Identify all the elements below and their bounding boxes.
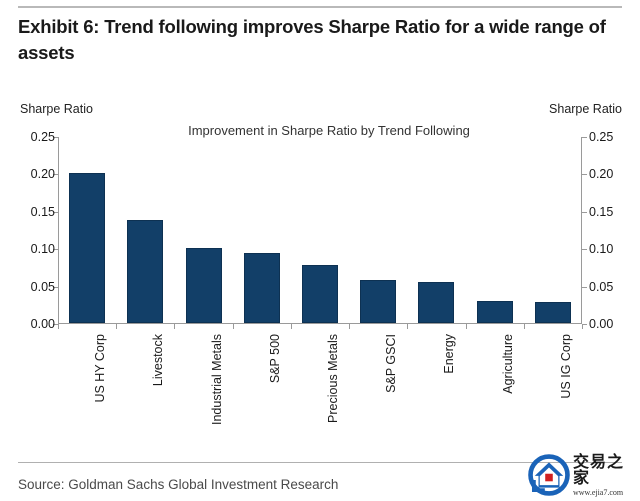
exhibit-title: Exhibit 6: Trend following improves Shar… bbox=[18, 14, 618, 66]
right-axis-tick-label: 0.00 bbox=[589, 318, 613, 331]
right-axis-tick-label: 0.05 bbox=[589, 281, 613, 294]
left-axis-tick-label: 0.25 bbox=[31, 131, 55, 144]
left-axis-title: Sharpe Ratio bbox=[20, 102, 93, 116]
x-axis-tick bbox=[466, 324, 467, 329]
right-axis-tick bbox=[582, 137, 587, 138]
plot-area: 0.000.000.050.050.100.100.150.150.200.20… bbox=[58, 137, 582, 324]
bar bbox=[127, 220, 163, 323]
right-axis-tick bbox=[582, 174, 587, 175]
chart-title: Improvement in Sharpe Ratio by Trend Fol… bbox=[0, 123, 640, 138]
x-axis-tick bbox=[233, 324, 234, 329]
right-axis-tick-label: 0.20 bbox=[589, 168, 613, 181]
x-axis-category-label: S&P GSCI bbox=[384, 334, 398, 393]
house-in-circle-logo-icon bbox=[528, 454, 570, 496]
bar bbox=[302, 265, 338, 323]
right-axis-tick bbox=[582, 287, 587, 288]
x-axis-tick bbox=[349, 324, 350, 329]
source-note: Source: Goldman Sachs Global Investment … bbox=[18, 477, 338, 492]
chart-container: Sharpe Ratio Sharpe Ratio Improvement in… bbox=[0, 96, 640, 446]
bar bbox=[418, 282, 454, 323]
right-axis-tick-label: 0.15 bbox=[589, 206, 613, 219]
bar bbox=[535, 302, 571, 323]
header-divider bbox=[18, 6, 622, 8]
bar bbox=[186, 248, 222, 323]
x-axis-tick bbox=[174, 324, 175, 329]
left-axis-line bbox=[58, 137, 59, 324]
x-axis-category-label: Livestock bbox=[151, 334, 165, 386]
right-axis-tick bbox=[582, 212, 587, 213]
left-axis-tick-label: 0.00 bbox=[31, 318, 55, 331]
x-axis-category-label: S&P 500 bbox=[268, 334, 282, 383]
right-axis-title: Sharpe Ratio bbox=[549, 102, 622, 116]
x-axis-category-label: US HY Corp bbox=[93, 334, 107, 403]
bar bbox=[360, 280, 396, 323]
watermark-name: 交易之家 bbox=[573, 454, 636, 486]
x-axis-category-label: Energy bbox=[442, 334, 456, 374]
bar bbox=[477, 301, 513, 323]
left-axis-tick-label: 0.15 bbox=[31, 206, 55, 219]
right-axis-line bbox=[581, 137, 582, 324]
watermark: 交易之家 www.ejia7.com bbox=[528, 452, 636, 498]
watermark-url: www.ejia7.com bbox=[573, 489, 636, 497]
x-axis-category-label: Precious Metals bbox=[326, 334, 340, 423]
left-axis-tick-label: 0.10 bbox=[31, 243, 55, 256]
left-axis-tick-label: 0.05 bbox=[31, 281, 55, 294]
x-axis-category-label: Agriculture bbox=[501, 334, 515, 394]
watermark-text: 交易之家 www.ejia7.com bbox=[573, 454, 636, 497]
left-axis-tick-label: 0.20 bbox=[31, 168, 55, 181]
x-axis-tick bbox=[524, 324, 525, 329]
x-axis-tick bbox=[407, 324, 408, 329]
x-axis-category-label: US IG Corp bbox=[559, 334, 573, 399]
right-axis-tick-label: 0.25 bbox=[589, 131, 613, 144]
x-axis-tick bbox=[582, 324, 583, 329]
x-axis-tick bbox=[291, 324, 292, 329]
x-axis-category-label: Industrial Metals bbox=[210, 334, 224, 425]
x-axis-tick bbox=[58, 324, 59, 329]
bar bbox=[69, 173, 105, 323]
right-axis-tick bbox=[582, 249, 587, 250]
x-axis-line bbox=[58, 323, 582, 324]
x-axis-tick bbox=[116, 324, 117, 329]
right-axis-tick-label: 0.10 bbox=[589, 243, 613, 256]
exhibit-figure: Exhibit 6: Trend following improves Shar… bbox=[0, 0, 640, 501]
bar bbox=[244, 253, 280, 323]
